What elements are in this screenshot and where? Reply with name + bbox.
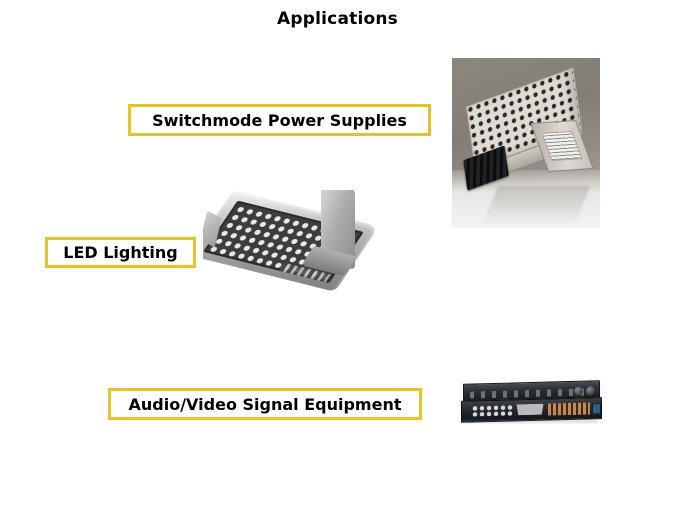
- av-dsub-connectors: [516, 404, 544, 416]
- av-rotary-knob-2: [586, 386, 595, 395]
- av-bnc-connectors: [472, 404, 514, 416]
- av-terminal-blocks: [548, 402, 590, 415]
- av-rear-panel-unit: [461, 397, 602, 423]
- callout-label: Switchmode Power Supplies: [152, 111, 407, 130]
- av-rack-equipment-image: [458, 380, 605, 424]
- callout-label: LED Lighting: [63, 243, 177, 262]
- av-unit-stack: [461, 380, 600, 422]
- psu-reflection: [482, 186, 590, 226]
- av-drop-shadow: [462, 420, 598, 424]
- psu-spec-label: [541, 131, 582, 161]
- callout-audio-video-signal-equipment: Audio/Video Signal Equipment: [108, 388, 422, 420]
- psu-side-face: [530, 120, 593, 172]
- callout-led-lighting: LED Lighting: [45, 237, 196, 268]
- callout-label: Audio/Video Signal Equipment: [129, 395, 402, 414]
- page-title: Applications: [0, 9, 675, 29]
- callout-switchmode-power-supplies: Switchmode Power Supplies: [128, 104, 431, 136]
- switchmode-power-supply-image: [452, 58, 600, 228]
- av-power-connector: [592, 403, 601, 414]
- led-street-light-image: [203, 190, 375, 312]
